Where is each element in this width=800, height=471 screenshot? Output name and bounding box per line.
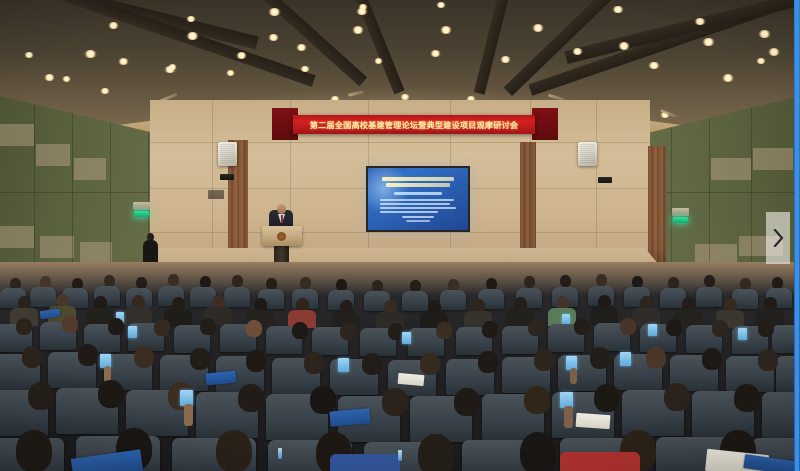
exit-sign-housing-left	[133, 202, 150, 210]
downlight	[236, 52, 247, 59]
auditorium-seat	[402, 291, 428, 311]
audience-head	[382, 388, 408, 416]
audience-head	[134, 346, 154, 368]
wall-inset-panel	[80, 242, 112, 262]
audience-head	[108, 318, 124, 335]
audience-head	[246, 350, 266, 372]
downlight	[430, 50, 441, 57]
page-scrollbar[interactable]	[794, 0, 800, 471]
downlight	[572, 48, 583, 55]
audience-head	[528, 319, 544, 336]
audience-head	[524, 386, 550, 414]
downlight	[226, 70, 235, 76]
wall-inset-panel	[753, 148, 793, 170]
speaker-grill	[580, 144, 595, 164]
downlight	[758, 30, 771, 38]
banner-title-text: 第二届全国高校基建管理论坛暨典型建设项目观摩研讨会	[310, 119, 518, 131]
downlight	[84, 50, 97, 58]
wall-inset-panel	[711, 158, 751, 180]
audience-head	[190, 348, 210, 370]
stage-curtain-far-right	[648, 146, 666, 268]
downlight	[44, 74, 55, 81]
downlight	[100, 88, 110, 94]
audience-head	[362, 353, 382, 375]
downlight	[300, 66, 310, 72]
downlight	[440, 26, 452, 34]
audience-head	[666, 319, 682, 336]
downlight	[722, 74, 734, 82]
downlight	[768, 48, 780, 56]
audience-head	[712, 320, 728, 337]
audience-head	[594, 384, 620, 412]
water-bottle	[278, 448, 282, 459]
downlight	[186, 16, 196, 22]
audience-head	[664, 383, 690, 411]
audience-head	[482, 321, 498, 338]
downlight	[374, 58, 383, 64]
slide-title-line-2	[386, 183, 450, 187]
audience-head	[304, 352, 324, 374]
downlight	[62, 76, 71, 82]
downlight	[648, 62, 660, 69]
audience-head	[340, 323, 356, 340]
downlight	[24, 52, 34, 58]
chevron-right-icon	[773, 229, 784, 247]
downlight	[500, 56, 511, 63]
wall-inset-panel	[36, 144, 70, 166]
audience-head	[646, 347, 666, 369]
slide-title-line-1	[382, 177, 454, 181]
auditorium-seat	[224, 287, 250, 307]
audience-head	[704, 275, 715, 287]
downlight	[612, 6, 624, 13]
downlight	[186, 32, 199, 40]
slide-bullet	[380, 203, 450, 205]
downlight	[168, 64, 177, 70]
audience-head	[292, 322, 308, 339]
wall-inset-panel	[0, 226, 34, 248]
audience-head	[454, 388, 480, 416]
notebook-paper	[398, 373, 425, 386]
audience-head	[78, 344, 98, 366]
audience-head	[232, 275, 243, 287]
wall-inset-panel	[40, 236, 74, 258]
wall-inset-panel	[0, 124, 34, 146]
smartphone-raised	[402, 332, 411, 344]
audience-head	[28, 382, 54, 410]
audience-head	[238, 384, 264, 412]
raised-arm	[564, 406, 573, 428]
smartphone-raised	[738, 328, 747, 340]
ceiling-spotlight	[348, 90, 364, 96]
auditorium-seat	[696, 287, 722, 307]
audience-head	[300, 277, 311, 289]
audience-head	[246, 320, 262, 337]
wall-inset-panel	[695, 244, 737, 264]
water-bottle	[398, 450, 402, 461]
notebook-paper	[576, 413, 611, 429]
conference-banner: 第二届全国高校基建管理论坛暨典型建设项目观摩研讨会	[293, 115, 535, 134]
smartphone-raised	[648, 324, 657, 336]
audience-body	[560, 452, 640, 471]
slide-bullet	[380, 211, 438, 213]
tile-seam	[150, 232, 650, 233]
audience-area	[0, 262, 800, 471]
downlight	[296, 44, 307, 51]
slide-footer-line-2	[406, 220, 430, 222]
slide-bullet	[380, 207, 456, 209]
audience-head	[478, 351, 498, 373]
exit-sign-left	[134, 211, 149, 217]
audience-head	[590, 347, 610, 369]
wall-loudspeaker-right	[578, 142, 597, 166]
wall-loudspeaker-left	[218, 142, 237, 166]
projection-screen	[368, 168, 468, 230]
audience-head	[574, 318, 590, 335]
audience-head	[520, 432, 556, 471]
audience-head	[216, 430, 252, 471]
audience-head	[310, 386, 336, 414]
downlight	[702, 38, 715, 46]
downlight	[756, 58, 766, 64]
audience-head	[734, 384, 760, 412]
audience-head	[98, 380, 124, 408]
audience-head	[420, 353, 440, 375]
downlight	[436, 2, 446, 8]
wall-vent-left	[208, 190, 224, 199]
audience-head	[534, 349, 554, 371]
scrollbar-thumb[interactable]	[795, 0, 799, 471]
exit-sign-housing-right	[672, 208, 689, 216]
smartphone-raised	[620, 352, 631, 366]
smartphone-raised	[338, 358, 349, 372]
raised-arm	[184, 404, 193, 426]
downlight	[618, 42, 630, 50]
audience-body	[330, 454, 400, 471]
slide-footer-line-1	[402, 216, 434, 218]
downlight	[268, 34, 279, 41]
audience-head	[758, 320, 774, 337]
next-photo-button[interactable]	[766, 212, 790, 264]
banner-fold-right	[532, 108, 558, 140]
audience-head	[560, 275, 571, 287]
auditorium-seat	[30, 287, 56, 307]
wall-equipment-box-right	[598, 177, 612, 183]
downlight	[108, 22, 119, 29]
slide-bullet	[380, 199, 454, 201]
auditorium-seat	[440, 290, 466, 310]
audience-head	[62, 316, 78, 333]
speaker-grill	[220, 144, 235, 164]
audience-head	[168, 274, 179, 286]
presenter-head	[277, 204, 286, 214]
audience-head	[702, 348, 722, 370]
audience-head	[436, 322, 452, 339]
wall-equipment-box-left	[220, 174, 234, 180]
audience-head	[620, 318, 636, 335]
downlight	[352, 26, 364, 34]
audience-head	[154, 319, 170, 336]
projection-screen-frame	[366, 166, 470, 232]
conference-photo: 第二届全国高校基建管理论坛暨典型建设项目观摩研讨会	[0, 0, 800, 471]
presenter-tie	[281, 215, 284, 223]
downlight	[356, 8, 368, 15]
exit-sign-right	[673, 217, 688, 223]
audience-head	[200, 318, 216, 335]
wall-seam	[0, 192, 175, 193]
audience-head	[596, 274, 607, 286]
audience-head	[524, 276, 535, 288]
audience-head	[22, 346, 42, 368]
slide-subtitle	[394, 192, 442, 195]
downlight	[532, 24, 544, 32]
downlight	[268, 8, 281, 16]
audience-head	[758, 349, 778, 371]
wall-inset-panel	[74, 158, 106, 180]
photo-viewer: 第二届全国高校基建管理论坛暨典型建设项目观摩研讨会	[0, 0, 800, 471]
audience-head	[418, 434, 454, 471]
raised-arm	[570, 368, 577, 384]
podium-emblem	[277, 232, 286, 241]
audience-head	[16, 318, 32, 335]
downlight	[694, 18, 706, 25]
audience-head	[16, 430, 52, 471]
smartphone-raised	[128, 326, 137, 338]
downlight	[118, 58, 129, 65]
